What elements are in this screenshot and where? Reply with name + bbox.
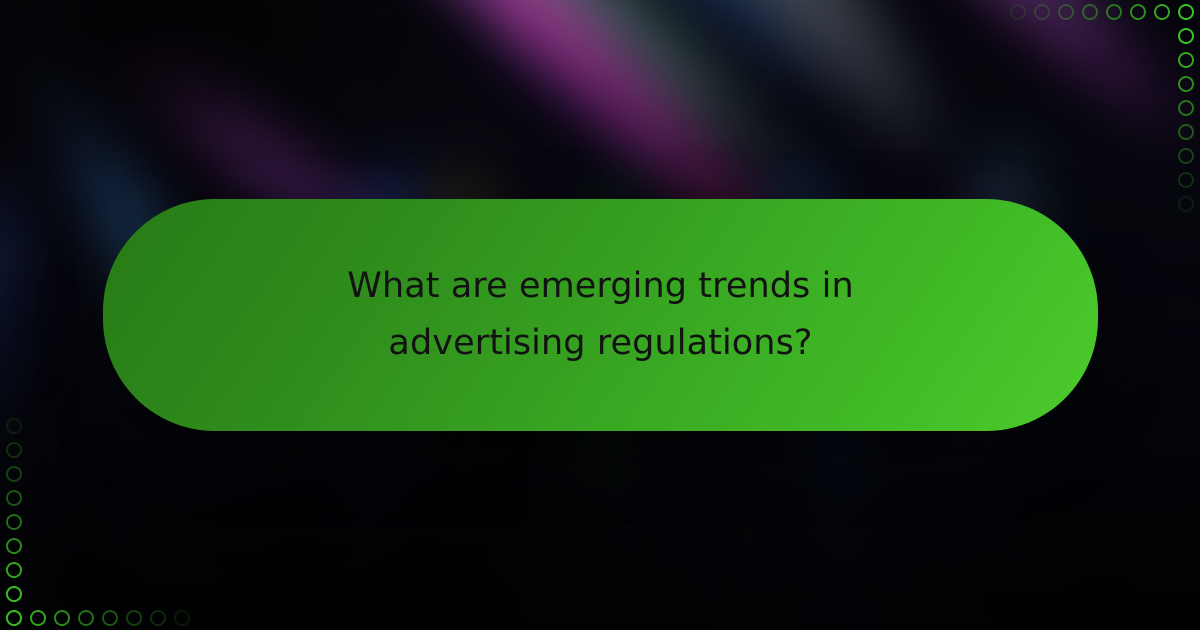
dot-cluster-bottom-row [6, 610, 198, 626]
circle-outline-icon [1178, 52, 1194, 68]
circle-outline-icon [126, 610, 142, 626]
circle-outline-icon [6, 490, 22, 506]
poster-canvas: What are emerging trends in advertising … [0, 0, 1200, 630]
circle-outline-icon [6, 538, 22, 554]
circle-outline-icon [6, 514, 22, 530]
circle-outline-icon [1010, 4, 1026, 20]
circle-outline-icon [1178, 100, 1194, 116]
circle-outline-icon [1034, 4, 1050, 20]
dot-cluster-left-column [6, 410, 22, 602]
circle-outline-icon [1082, 4, 1098, 20]
circle-outline-icon [1130, 4, 1146, 20]
circle-outline-icon [1154, 4, 1170, 20]
circle-outline-icon [1178, 4, 1194, 20]
circle-outline-icon [78, 610, 94, 626]
dot-cluster-right-column [1178, 28, 1194, 220]
circle-outline-icon [6, 562, 22, 578]
circle-outline-icon [54, 610, 70, 626]
circle-outline-icon [174, 610, 190, 626]
circle-outline-icon [1106, 4, 1122, 20]
circle-outline-icon [150, 610, 166, 626]
question-card[interactable]: What are emerging trends in advertising … [103, 199, 1098, 431]
question-text: What are emerging trends in advertising … [251, 258, 951, 372]
circle-outline-icon [6, 418, 22, 434]
dot-cluster-top-row [1002, 4, 1194, 20]
circle-outline-icon [1178, 124, 1194, 140]
circle-outline-icon [1178, 76, 1194, 92]
circle-outline-icon [6, 586, 22, 602]
circle-outline-icon [1178, 148, 1194, 164]
circle-outline-icon [1058, 4, 1074, 20]
circle-outline-icon [1178, 28, 1194, 44]
circle-outline-icon [102, 610, 118, 626]
circle-outline-icon [1178, 172, 1194, 188]
circle-outline-icon [6, 610, 22, 626]
circle-outline-icon [6, 466, 22, 482]
circle-outline-icon [1178, 196, 1194, 212]
circle-outline-icon [30, 610, 46, 626]
circle-outline-icon [6, 442, 22, 458]
